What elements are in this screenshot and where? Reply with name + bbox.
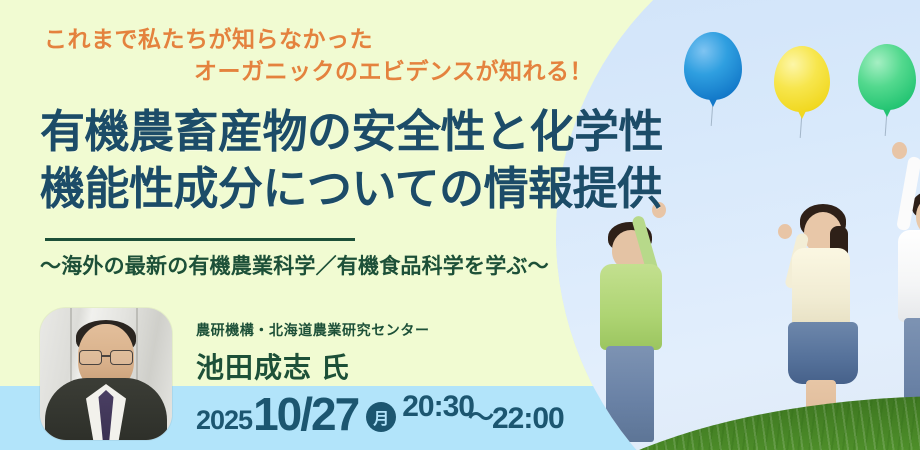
glasses-icon [79,350,133,364]
page-title: 有機農畜産物の安全性と化学性 機能性成分についての情報提供 [40,104,780,217]
event-end-time: 22:00 [492,402,564,436]
title-line-2: 機能性成分についての情報提供 [40,161,780,218]
green-balloon [858,44,916,110]
event-month-day: 10/27 [253,392,358,436]
title-line-1: 有機農畜産物の安全性と化学性 [40,104,780,161]
speaker-name: 池田成志 氏 [196,346,350,386]
event-day-of-week-badge: 月 [366,402,396,432]
lead-line-2: オーガニックのエビデンスが知れる！ [44,56,664,88]
event-year: 2025 [196,405,252,436]
speaker-affiliation: 農研機構・北海道農業研究センター [196,320,430,340]
speaker-avatar [40,308,172,440]
time-range-tilde: 〜 [468,397,494,434]
event-datetime: 2025 10/27 月 20:30 〜 22:00 [196,392,564,436]
seminar-banner: これまで私たちが知らなかった オーガニックのエビデンスが知れる！ 有機農畜産物の… [0,0,920,450]
subtitle: 〜海外の最新の有機農業科学／有機食品科学を学ぶ〜 [40,250,640,280]
event-start-time: 20:30 [402,390,474,424]
title-divider [45,238,355,241]
blue-balloon [684,32,742,100]
yellow-balloon [774,46,830,112]
lead-line-1: これまで私たちが知らなかった [44,26,373,52]
lead-copy: これまで私たちが知らなかった オーガニックのエビデンスが知れる！ [44,24,664,87]
